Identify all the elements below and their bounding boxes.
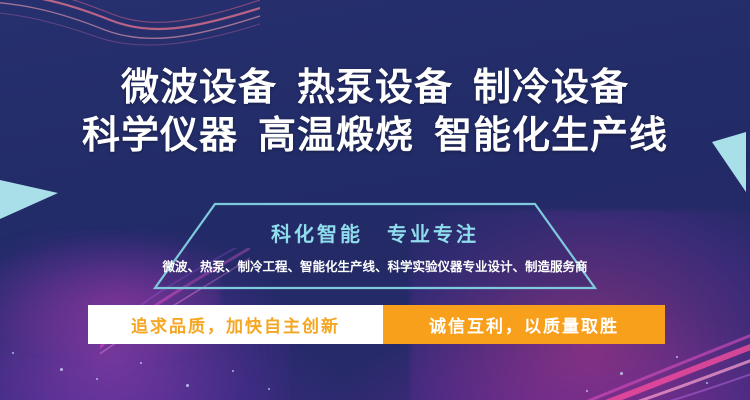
slogan-bar-group: 追求品质，加快自主创新 诚信互利，以质量取胜 [88, 305, 665, 344]
slogan-badge: 科化智能专业专注 微波、热泵、制冷工程、智能化生产线、科学实验仪器专业设计、制造… [153, 202, 597, 290]
headline-segment: 智能化生产线 [434, 112, 668, 160]
headline-block: 微波设备热泵设备制冷设备 科学仪器高温煅烧智能化生产线 [0, 64, 750, 160]
headline-line-1: 微波设备热泵设备制冷设备 [0, 64, 750, 112]
triangle-right-icon [0, 180, 58, 219]
headline-line-2: 科学仪器高温煅烧智能化生产线 [0, 112, 750, 160]
slogan-right: 专业专注 [387, 224, 479, 246]
headline-segment: 微波设备 [121, 64, 277, 112]
promo-banner: 微波设备热泵设备制冷设备 科学仪器高温煅烧智能化生产线 科化智能专业专注 微波、… [0, 0, 750, 400]
slogan-bar-secondary: 诚信互利，以质量取胜 [383, 305, 665, 344]
slogan-bar-primary: 追求品质，加快自主创新 [88, 305, 383, 344]
headline-segment: 科学仪器 [82, 112, 238, 160]
headline-segment: 制冷设备 [473, 64, 629, 112]
slogan-text: 科化智能专业专注 [153, 218, 597, 247]
headline-segment: 高温煅烧 [258, 112, 414, 160]
slogan-left: 科化智能 [271, 224, 363, 246]
headline-segment: 热泵设备 [297, 64, 453, 112]
badge-description: 微波、热泵、制冷工程、智能化生产线、科学实验仪器专业设计、制造服务商 [153, 256, 597, 275]
